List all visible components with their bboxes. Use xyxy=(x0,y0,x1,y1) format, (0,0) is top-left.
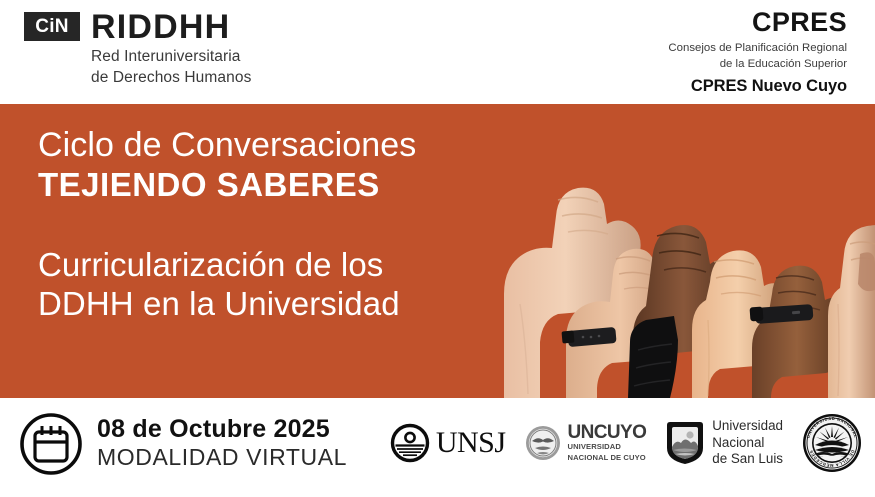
cpres-description-line1: Consejos de Planificación Regional xyxy=(668,41,847,57)
uncuyo-sub-line2: NACIONAL DE CUYO xyxy=(568,453,647,463)
hero-text-block: Ciclo de Conversaciones TEJIENDO SABERES… xyxy=(38,126,508,324)
logo-unvime: UNIVERSIDAD NACIONAL DE VILLA MERCEDES xyxy=(801,412,863,474)
unsl-line1: Universidad xyxy=(712,418,783,435)
riddhh-subtitle-line2: de Derechos Humanos xyxy=(91,68,251,89)
riddhh-top-row: CiN RIDDHH xyxy=(24,10,251,43)
cin-badge-icon: CiN xyxy=(24,12,80,41)
unsj-seal-icon xyxy=(390,423,430,463)
riddhh-logo-lockup: CiN RIDDHH Red Interuniversitaria de Der… xyxy=(24,10,251,88)
date-block: 08 de Octubre 2025 MODALIDAD VIRTUAL xyxy=(18,411,347,477)
logo-uncuyo: UNCUYO UNIVERSIDAD NACIONAL DE CUYO xyxy=(524,423,647,463)
cpres-description-line2: de la Educación Superior xyxy=(668,57,847,73)
logo-unsj: UNSJ xyxy=(390,423,506,463)
hero-subject-line1: Curricularización de los xyxy=(38,246,508,285)
flyer-footer: 08 de Octubre 2025 MODALIDAD VIRTUAL xyxy=(0,398,875,497)
unsj-wordmark: UNSJ xyxy=(436,428,506,458)
unsl-text-block: Universidad Nacional de San Luis xyxy=(712,418,783,469)
cpres-logo-lockup: CPRES Consejos de Planificación Regional… xyxy=(668,9,847,95)
hero-band: Ciclo de Conversaciones TEJIENDO SABERES… xyxy=(0,104,875,398)
uncuyo-text-block: UNCUYO UNIVERSIDAD NACIONAL DE CUYO xyxy=(568,423,647,463)
unvime-seal-icon: UNIVERSIDAD NACIONAL DE VILLA MERCEDES xyxy=(801,412,863,474)
sponsor-logos-row: UNSJ UNCUYO UNIVERSIDAD xyxy=(390,410,863,476)
uncuyo-sub-line1: UNIVERSIDAD xyxy=(568,442,647,452)
event-flyer: CiN RIDDHH Red Interuniversitaria de Der… xyxy=(0,0,875,497)
event-modality: MODALIDAD VIRTUAL xyxy=(97,444,347,472)
riddhh-subtitle-line1: Red Interuniversitaria xyxy=(91,47,251,68)
date-text-lines: 08 de Octubre 2025 MODALIDAD VIRTUAL xyxy=(97,415,347,474)
hero-subject-line2: DDHH en la Universidad xyxy=(38,285,508,324)
cpres-wordmark: CPRES xyxy=(668,9,847,36)
calendar-icon xyxy=(18,411,84,477)
cin-badge-text: CiN xyxy=(35,17,69,36)
uncuyo-wordmark: UNCUYO xyxy=(568,423,647,442)
raised-fists-photo xyxy=(480,104,875,398)
riddhh-wordmark: RIDDHH xyxy=(91,10,230,44)
riddhh-subtitle: Red Interuniversitaria de Derechos Human… xyxy=(91,47,251,88)
hero-eyebrow: Ciclo de Conversaciones xyxy=(38,126,508,164)
unsl-line2: Nacional xyxy=(712,435,783,452)
event-date: 08 de Octubre 2025 xyxy=(97,415,347,444)
flyer-header: CiN RIDDHH Red Interuniversitaria de Der… xyxy=(0,0,875,104)
cpres-description: Consejos de Planificación Regional de la… xyxy=(668,41,847,72)
uncuyo-seal-icon xyxy=(524,424,562,462)
unsl-shield-icon xyxy=(664,420,706,466)
hero-series-title: TEJIENDO SABERES xyxy=(38,166,508,204)
hero-subject: Curricularización de los DDHH en la Univ… xyxy=(38,246,508,323)
cpres-region-label: CPRES Nuevo Cuyo xyxy=(668,78,847,95)
logo-unsl: Universidad Nacional de San Luis xyxy=(664,418,783,469)
unsl-line3: de San Luis xyxy=(712,451,783,468)
